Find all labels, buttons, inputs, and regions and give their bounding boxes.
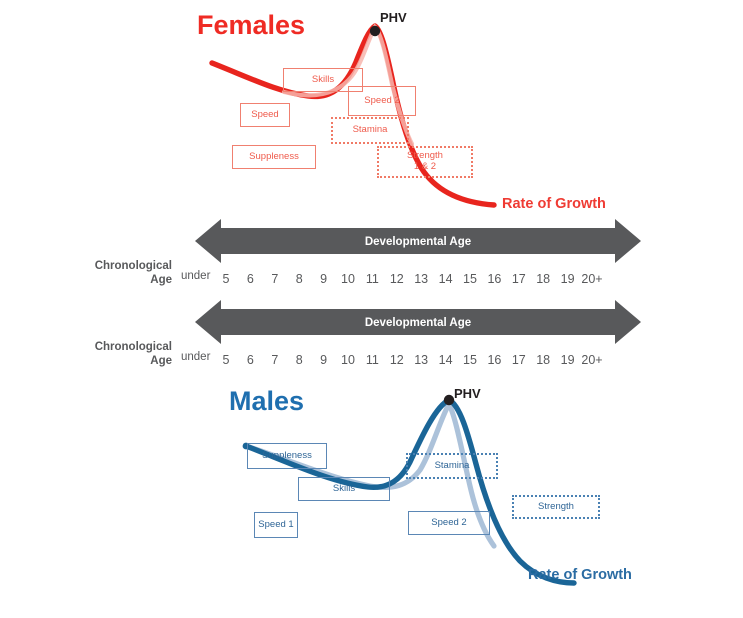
male-growth-curve — [246, 400, 574, 583]
male-box-suppleness: Suppleness — [247, 443, 327, 469]
capacity-label: Suppleness — [262, 451, 312, 462]
capacity-label: Speed 1 — [258, 520, 293, 531]
capacity-label: Strength — [538, 502, 574, 513]
male-box-speed-1: Speed 1 — [254, 512, 298, 538]
male-rate-of-growth-label: Rate of Growth — [528, 567, 632, 583]
male-phv-point — [444, 395, 454, 405]
male-box-stamina: Stamina — [406, 453, 498, 479]
male-curve-layer — [0, 0, 743, 618]
male-box-speed-2: Speed 2 — [408, 511, 490, 535]
male-box-skills: Skills — [298, 477, 390, 501]
capacity-label: Speed 2 — [431, 518, 466, 529]
capacity-label: Skills — [333, 484, 355, 495]
capacity-label: Stamina — [435, 461, 470, 472]
diagram-canvas: Females PHV Rate of Growth SkillsSpeedSu… — [0, 0, 743, 618]
male-phv-label: PHV — [454, 386, 481, 401]
male-box-strength: Strength — [512, 495, 600, 519]
